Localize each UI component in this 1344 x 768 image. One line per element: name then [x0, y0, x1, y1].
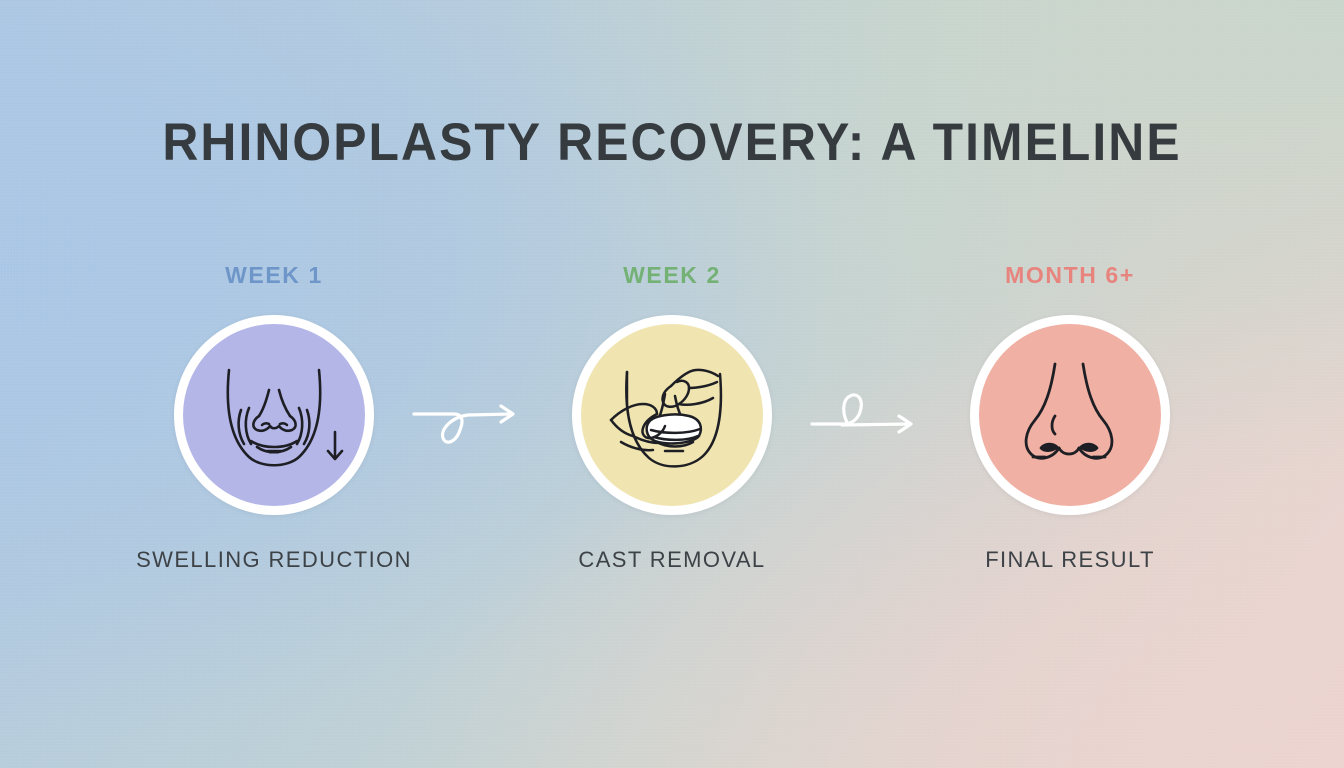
timeline-stage-month-6: MONTH 6+ — [936, 262, 1204, 573]
stage-circle-2 — [581, 324, 763, 506]
page-title: RHINOPLASTY RECOVERY: A TIMELINE — [40, 112, 1303, 173]
stage-caption-swelling-reduction: SWELLING REDUCTION — [136, 547, 412, 573]
swollen-face-with-down-arrow-icon — [183, 324, 365, 506]
stage-label-week-2: WEEK 2 — [623, 262, 721, 289]
refined-nose-icon — [979, 324, 1161, 506]
stage-circle-1 — [183, 324, 365, 506]
stage-label-month-6: MONTH 6+ — [1005, 262, 1135, 289]
connector-1 — [408, 320, 538, 520]
timeline-stage-week-1: WEEK 1 — [140, 262, 408, 573]
stage-caption-cast-removal: CAST REMOVAL — [578, 547, 765, 573]
stage-circle-ring-3 — [970, 315, 1170, 515]
timeline-stage-week-2: WEEK 2 — [538, 262, 806, 573]
looping-arrow-up-loop-icon — [808, 384, 934, 456]
stage-circle-3 — [979, 324, 1161, 506]
stage-label-week-1: WEEK 1 — [225, 262, 323, 289]
hands-removing-nasal-cast-icon — [581, 324, 763, 506]
stage-circle-ring-2 — [572, 315, 772, 515]
looping-arrow-down-loop-icon — [410, 384, 536, 456]
poster-canvas: RHINOPLASTY RECOVERY: A TIMELINE WEEK 1 — [0, 0, 1344, 768]
recovery-timeline: WEEK 1 — [140, 262, 1204, 592]
stage-circle-ring-1 — [174, 315, 374, 515]
stage-caption-final-result: FINAL RESULT — [985, 547, 1155, 573]
connector-2 — [806, 320, 936, 520]
